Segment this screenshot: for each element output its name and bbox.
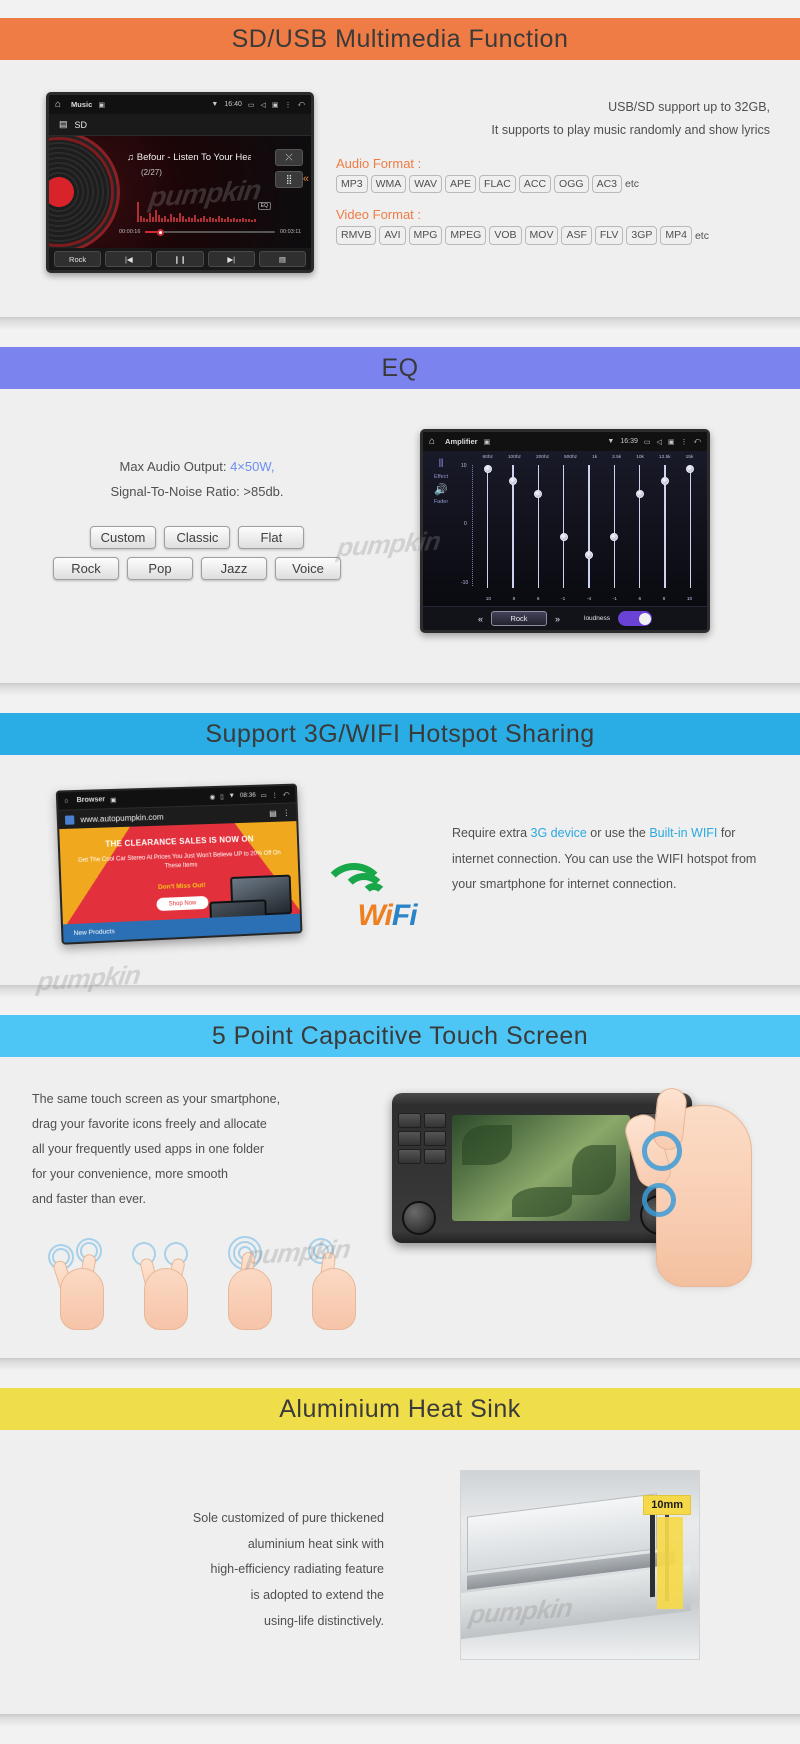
format-chip: MOV [525,226,559,244]
vinyl-record-art [49,140,111,244]
band-slider[interactable] [508,465,518,588]
section-header-touch: 5 Point Capacitive Touch Screen [0,1015,800,1057]
spec-accent: 4×50W, [230,459,274,474]
band-sliders[interactable] [475,465,703,588]
video-format-label: Video Format : [336,207,770,222]
video-etc-label: etc [695,230,709,242]
scale-max: 10 [461,463,467,469]
spectrum-bar [218,216,220,222]
spectrum-bar [185,219,187,222]
prev-preset-icon[interactable]: « [478,614,483,624]
lead-line-1: USB/SD support up to 32GB, [336,96,770,119]
audio-format-chips: MP3 WMA WAV APE FLAC ACC OGG AC3 etc [336,175,770,193]
format-chip: ASF [561,226,591,244]
preset-rock-button[interactable]: Rock [53,557,119,580]
format-chip: OGG [554,175,589,193]
section-heatsink: Aluminium Heat Sink Sole customized of p… [0,1388,800,1726]
band-slider-handle[interactable] [509,477,517,485]
band-value-label: -4 [587,597,591,602]
spectrum-bar [215,219,217,222]
track-title-text: Befour - Listen To Your Heart.m... [137,152,251,163]
home-icon[interactable]: ⌂ [55,99,61,110]
spectrum-bar [164,216,166,222]
section-eq: EQ Max Audio Output: 4×50W, Signal-To-No… [0,347,800,695]
volume-icon[interactable]: ◁ [657,438,662,446]
media-player-figure: ⌂ Music ▣ ▼ 16:40 ▭ ◁ ▣ ⋮ ⤺ [30,92,330,273]
section-body-hotspot: ⌂ Browser ▣ ◉ ▯ ▼ 08:36 ▭ ⋮ ⤺ [0,755,800,985]
format-chip: MPEG [445,226,486,244]
section-body-heatsink: Sole customized of pure thickened alumin… [0,1430,800,1714]
band-slider[interactable] [685,465,695,588]
heatsink-line-2: aluminium heat sink with [32,1532,392,1558]
gesture-swipe-icon [298,1234,372,1330]
eq-badge: EQ [258,202,271,210]
audio-format-label: Audio Format : [336,156,770,171]
band-value-label: -1 [561,597,565,602]
sim-icon: ▯ [220,792,224,800]
spectrum-bar [203,216,205,222]
spectrum-bar [155,210,157,222]
section-title: 5 Point Capacitive Touch Screen [212,1022,588,1051]
seek-handle[interactable] [157,229,164,236]
heatsink-shadow-1 [650,1501,655,1598]
spectrum-bar [140,216,142,222]
screenshot-icon[interactable]: ▣ [668,438,675,446]
band-slider[interactable] [660,465,670,588]
heatsink-line-5: using-life distinctively. [32,1609,392,1635]
para-accent-3g: 3G device [531,826,587,840]
url-text[interactable]: www.autopumpkin.com [80,812,163,824]
section-header-heatsink: Aluminium Heat Sink [0,1388,800,1430]
scale-zero: 0 [464,521,467,527]
para-accent-wifi: Built-in WIFI [649,826,717,840]
time-elapsed: 00:00:16 [119,229,140,235]
scale-dotted-line [472,465,473,586]
format-chip: WAV [409,175,442,193]
measurement-strip [657,1517,683,1609]
band-slider[interactable] [483,465,493,588]
sd-card-icon: ▣ [484,438,491,446]
format-chip: VOB [489,226,521,244]
spectrum-bar [143,218,145,222]
spectrum-bar [206,219,208,222]
format-chip: ACC [519,175,551,193]
freq-label: 10k [636,455,644,460]
track-title: ♫ Befour - Listen To Your Heart.m... [127,152,251,163]
left-hard-buttons[interactable] [398,1113,446,1164]
band-value-label: 6 [537,597,540,602]
next-preset-icon[interactable]: » [555,614,560,624]
sd-icon: ▤ [59,119,68,130]
spectrum-bar [194,215,196,222]
overflow-menu-icon[interactable]: ⋮ [681,438,688,446]
preset-row-2: Rock Pop Jazz Voice [53,557,341,580]
status-clock: 08:36 [240,792,256,799]
track-index: (2/27) [141,168,162,177]
audio-etc-label: etc [625,178,639,190]
spectrum-bar [170,214,172,222]
hotspot-copy: Require extra 3G device or use the Built… [452,787,768,939]
spectrum-bar [209,217,211,222]
video-format-chips: RMVB AVI MPG MPEG VOB MOV ASF FLV 3GP MP… [336,226,770,244]
spectrum-bar [167,219,169,222]
band-slider-track [487,465,489,588]
format-chip: AC3 [592,175,622,193]
spectrum-bar [173,217,175,222]
freq-label: 200hz [536,455,549,460]
equalizer-panel: ⦀ Effect 🔊 Fader 60hz 100hz 200hz [423,451,707,606]
spectrum-bar [233,218,235,222]
home-icon[interactable]: ⌂ [64,797,68,804]
preset-voice-button[interactable]: Voice [275,557,341,580]
band-slider-track [538,465,540,588]
heatsink-copy: Sole customized of pure thickened alumin… [32,1470,392,1660]
section-header-sd-usb: SD/USB Multimedia Function [0,18,800,60]
section-hotspot: Support 3G/WIFI Hotspot Sharing ⌂ Browse… [0,713,800,997]
back-icon[interactable]: ⤺ [694,438,701,446]
frequency-labels: 60hz 100hz 200hz 500hz 1k 2.5k 10k 12.5k… [475,455,701,460]
sd-usb-copy: USB/SD support up to 32GB, It supports t… [336,92,770,273]
band-slider-track [563,465,565,588]
heatsink-figure: 10mm pumpkin [392,1470,768,1660]
spectrum-bar [212,218,214,222]
preset-custom-button[interactable]: Custom [90,526,157,549]
section-divider [0,1714,800,1726]
format-chip: APE [445,175,476,193]
equalizer-bands: 60hz 100hz 200hz 500hz 1k 2.5k 10k 12.5k… [459,451,707,606]
format-chip: FLAC [479,175,516,193]
spectrum-bar [236,219,238,222]
gain-scale: 10 0 -10 [461,463,475,588]
spectrum-bar [158,215,160,222]
touch-ripple-icon [642,1183,676,1217]
back-icon[interactable]: ⤺ [283,790,290,798]
band-slider-track [588,465,590,588]
freq-label: 15k [686,455,694,460]
spectrum-bar [137,202,139,222]
format-chip: MP3 [336,175,368,193]
band-slider-handle[interactable] [534,490,542,498]
heatsink-line-4: is adopted to extend the [32,1583,392,1609]
car-stereo-equalizer-screen: ⌂ Amplifier ▣ ▼ 16:39 ▭ ◁ ▣ ⋮ ⤺ [420,429,710,633]
band-value-label: -1 [613,597,617,602]
band-slider-handle[interactable] [661,477,669,485]
para-part: or use the [587,826,650,840]
shuffle-button[interactable]: ⤬ [275,149,303,166]
format-chip: MP4 [660,226,692,244]
scale-min: -10 [461,580,468,586]
head-unit-display[interactable] [452,1115,630,1221]
product-feature-page: SD/USB Multimedia Function ⌂ Music ▣ ▼ 1… [0,0,800,1744]
band-slider[interactable] [533,465,543,588]
equalizer-button[interactable]: ⣿ [275,171,303,188]
spec-prefix: Max Audio Output: [119,459,230,474]
para-part: Require extra [452,826,531,840]
amp-status-bar: ⌂ Amplifier ▣ ▼ 16:39 ▭ ◁ ▣ ⋮ ⤺ [423,432,707,451]
loudness-toggle[interactable] [618,611,652,626]
spectrum-bar [245,219,247,222]
volume-icon[interactable]: ◁ [261,101,266,109]
snr-line: Signal-To-Noise Ratio: >85db. [32,480,362,505]
wifi-icon: ▼ [607,438,614,445]
touch-line-3: all your frequently used apps in one fol… [32,1137,392,1162]
gesture-pinch-icon [46,1234,120,1330]
spectrum-bar [188,217,190,222]
preset-row-1: Custom Classic Flat [90,526,305,549]
status-app-title: Browser [76,796,105,804]
car-stereo-music-screen: ⌂ Music ▣ ▼ 16:40 ▭ ◁ ▣ ⋮ ⤺ [46,92,314,273]
now-playing-area: ♫ Befour - Listen To Your Heart.m... (2/… [49,136,311,248]
gps-icon: ◉ [210,792,216,800]
spectrum-bar [179,213,181,222]
section-divider [0,317,800,329]
section-divider [0,683,800,695]
spacer [0,997,800,1015]
format-chip: WMA [371,175,407,193]
status-app-title: Amplifier [445,437,478,446]
section-body-touch: The same touch screen as your smartphone… [0,1057,800,1358]
section-body-eq: Max Audio Output: 4×50W, Signal-To-Noise… [0,389,800,683]
freq-label: 60hz [482,455,492,460]
spectrum-bar [221,218,223,222]
car-stereo-browser-screen: ⌂ Browser ▣ ◉ ▯ ▼ 08:36 ▭ ⋮ ⤺ [56,784,303,945]
preset-classic-button[interactable]: Classic [164,526,230,549]
loudness-label: loudness [584,615,610,622]
section-title: Aluminium Heat Sink [279,1395,521,1424]
band-slider-track [690,465,692,588]
touch-line-2: drag your favorite icons freely and allo… [32,1112,392,1137]
preset-pop-button[interactable]: Pop [127,557,193,580]
section-sd-usb: SD/USB Multimedia Function ⌂ Music ▣ ▼ 1… [0,18,800,329]
screenshot-icon[interactable]: ▣ [272,101,279,109]
equalizer-footer: « Rock » loudness [423,606,707,630]
speaker-icon[interactable]: 🔊 [434,483,448,496]
ad-headline: THE CLEARANCE SALES IS NOW ON [60,833,297,851]
advertisement-banner[interactable]: THE CLEARANCE SALES IS NOW ON Get The Co… [59,821,300,943]
band-value-label: 8 [663,597,666,602]
source-row[interactable]: ▤ SD [49,114,311,136]
seek-track[interactable] [145,231,275,233]
battery-icon: ▭ [644,438,651,446]
spectrum-bar [230,219,232,222]
overflow-menu-icon[interactable]: ⋮ [285,101,292,109]
spectrum-bar [152,217,154,222]
playlist-button[interactable]: ▤ [259,251,306,267]
band-slider-track [639,465,641,588]
status-clock: 16:39 [620,438,638,445]
eq-copy: Max Audio Output: 4×50W, Signal-To-Noise… [32,429,362,633]
spectrum-bar [161,218,163,222]
band-slider-handle[interactable] [484,465,492,473]
freq-label: 500hz [564,455,577,460]
heatsink-photo: 10mm [460,1470,700,1660]
previous-button[interactable]: |◀ [105,251,152,267]
sd-card-icon: ▣ [98,101,105,109]
transport-controls: Rock |◀ ❙❙ ▶| ▤ [49,248,311,270]
spectrum-bar [200,218,202,222]
gesture-illustrations [32,1234,392,1330]
spectrum-bar [251,220,253,222]
ad-subtext: Get The Cool Car Stereo At Prices You Ju… [75,849,285,874]
section-divider [0,1358,800,1370]
format-chip: 3GP [626,226,657,244]
music-note-icon: ♫ [127,152,137,163]
band-slider-handle[interactable] [585,551,593,559]
current-preset-button[interactable]: Rock [491,611,547,626]
battery-icon: ▭ [248,101,255,109]
home-icon[interactable]: ⌂ [429,436,435,447]
shop-now-button[interactable]: Shop Now [156,896,208,911]
format-chip: RMVB [336,226,376,244]
wifi-icon: ▼ [229,792,236,799]
section-title: EQ [381,354,418,383]
band-value-label: 8 [513,597,516,602]
band-slider-handle[interactable] [610,533,618,541]
hotspot-paragraph: Require extra 3G device or use the Built… [452,821,768,898]
section-title: Support 3G/WIFI Hotspot Sharing [205,720,594,749]
format-chip: AVI [379,226,405,244]
freq-label: 12.5k [659,455,671,460]
band-slider[interactable] [559,465,569,588]
browser-menu-icon[interactable]: ⋮ [282,808,290,817]
freq-label: 1k [592,455,597,460]
overflow-menu-icon[interactable]: ⋮ [271,791,278,799]
ad-footer-label: New Products [63,914,301,943]
format-chip: MPG [409,226,443,244]
top-spacer [0,0,800,18]
band-value-label: 10 [486,597,491,602]
section-title: SD/USB Multimedia Function [232,25,569,54]
band-slider-track [614,465,616,588]
touch-ripple-icon [642,1131,682,1171]
band-slider[interactable] [635,465,645,588]
favicon-icon [65,815,75,824]
preset-rock-button[interactable]: Rock [54,251,101,267]
sd-card-icon: ▣ [110,795,117,803]
spacer [0,329,800,347]
spectrum-bar [224,219,226,222]
section-header-eq: EQ [0,347,800,389]
pause-button[interactable]: ❙❙ [156,251,203,267]
band-value-labels: 1086-1-4-16810 [475,597,703,602]
seek-bar-row[interactable]: 00:00:16 00:03:11 [119,229,301,235]
equalizer-side-nav: ⦀ Effect 🔊 Fader [423,451,459,606]
volume-knob[interactable] [402,1201,436,1235]
spectrum-bar [146,219,148,222]
spacer [0,695,800,713]
section-body-sd-usb: ⌂ Music ▣ ▼ 16:40 ▭ ◁ ▣ ⋮ ⤺ [0,60,800,317]
band-slider[interactable] [609,465,619,588]
amplifier-figure: ⌂ Amplifier ▣ ▼ 16:39 ▭ ◁ ▣ ⋮ ⤺ [362,429,768,633]
battery-icon: ▭ [261,791,267,799]
lead-line-2: It supports to play music randomly and s… [336,119,770,142]
measurement-label: 10mm [643,1495,691,1515]
band-slider-handle[interactable] [560,533,568,541]
band-slider-handle[interactable] [636,490,644,498]
back-icon[interactable]: ⤺ [298,101,305,109]
format-chip: FLV [595,226,623,244]
band-value-label: 10 [687,597,692,602]
tabs-icon[interactable]: ▤ [269,808,277,817]
heatsink-line-1: Sole customized of pure thickened [32,1506,392,1532]
preset-flat-button[interactable]: Flat [238,526,304,549]
band-value-label: 6 [638,597,641,602]
wifi-icon: ▼ [211,101,218,108]
spectrum-bar [248,219,250,222]
touch-line-5: and faster than ever. [32,1187,392,1212]
section-touch: 5 Point Capacitive Touch Screen The same… [0,1015,800,1370]
gesture-spread-icon [130,1234,204,1330]
collapse-chevron-icon[interactable]: « [303,173,309,185]
time-total: 00:03:11 [280,229,301,235]
spectrum-bar [254,219,256,222]
device-status-bar: ⌂ Music ▣ ▼ 16:40 ▭ ◁ ▣ ⋮ ⤺ [49,95,311,114]
band-slider[interactable] [584,465,594,588]
sliders-icon[interactable]: ⦀ [439,458,444,471]
status-clock: 16:40 [224,101,242,108]
browser-figure: ⌂ Browser ▣ ◉ ▯ ▼ 08:36 ▭ ⋮ ⤺ [32,787,452,939]
headunit-figure: pumpkin [392,1087,768,1330]
next-button[interactable]: ▶| [208,251,255,267]
spectrum-bar [191,218,193,222]
spectrum-bar [176,218,178,222]
spacer [0,1370,800,1388]
section-header-hotspot: Support 3G/WIFI Hotspot Sharing [0,713,800,755]
heatsink-line-3: high-efficiency radiating feature [32,1557,392,1583]
wifi-logo: WiFi [332,861,442,933]
spectrum-bar [182,216,184,222]
side-nav-effect-label[interactable]: Effect [434,474,448,480]
freq-label: 2.5k [612,455,621,460]
section-divider [0,985,800,997]
side-nav-fader-label[interactable]: Fader [434,499,448,505]
freq-label: 100hz [508,455,521,460]
spectrum-bar [149,213,151,222]
spectrum-bar [227,217,229,222]
max-audio-output-line: Max Audio Output: 4×50W, [32,455,362,480]
spectrum-bar [197,219,199,222]
seek-fill [145,231,157,233]
bottom-spacer [0,1726,800,1744]
source-label: SD [75,120,88,130]
spectrum-visualizer [137,196,257,222]
preset-jazz-button[interactable]: Jazz [201,557,267,580]
touch-line-1: The same touch screen as your smartphone… [32,1087,392,1112]
gesture-tap-icon [214,1234,288,1330]
eq-preset-buttons: Custom Classic Flat Rock Pop Jazz Voice [32,526,362,580]
band-slider-handle[interactable] [686,465,694,473]
spectrum-bar [239,219,241,222]
spectrum-bar [242,218,244,222]
touch-line-4: for your convenience, more smooth [32,1162,392,1187]
status-app-title: Music [71,100,92,109]
touch-copy: The same touch screen as your smartphone… [32,1087,392,1330]
wifi-signal-icon [332,861,442,901]
